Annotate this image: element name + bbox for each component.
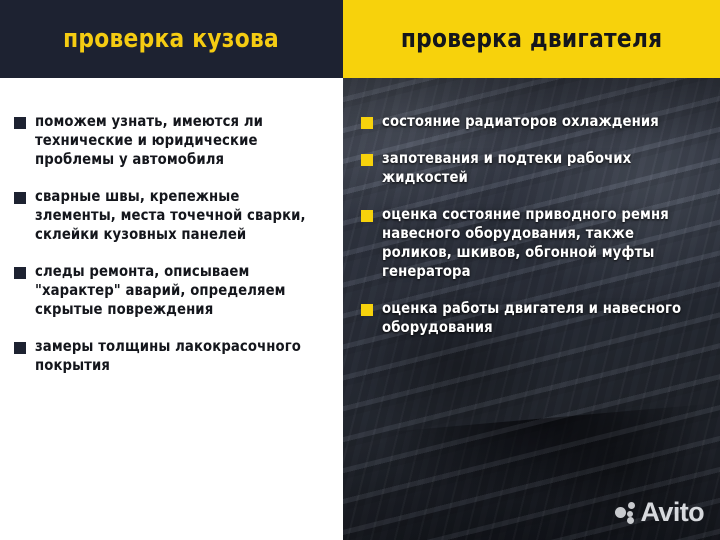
square-bullet-icon (14, 192, 26, 204)
list-item-text: поможем узнать, имеются ли технические и… (35, 112, 314, 169)
square-bullet-icon (14, 117, 26, 129)
square-bullet-icon (361, 154, 373, 166)
right-column-header: проверка двигателя (343, 0, 720, 78)
square-bullet-icon (361, 210, 373, 222)
list-item: замеры толщины лакокрасочного покрытия (14, 337, 329, 375)
left-column-title: проверка кузова (64, 26, 280, 52)
right-column-list: состояние радиаторов охлаждения запотева… (343, 112, 720, 355)
square-bullet-icon (361, 117, 373, 129)
list-item: следы ремонта, описываем "характер" авар… (14, 262, 329, 319)
list-item: состояние радиаторов охлаждения (361, 112, 706, 131)
right-column: проверка двигателя состояние радиаторов … (343, 0, 720, 540)
avito-watermark: Avito (615, 499, 705, 526)
left-column-header: проверка кузова (0, 0, 343, 78)
list-item-text: сварные швы, крепежные злементы, места т… (35, 187, 314, 244)
list-item: запотевания и подтеки рабочих жидкостей (361, 149, 706, 187)
square-bullet-icon (14, 267, 26, 279)
left-column-list: поможем узнать, имеются ли технические и… (0, 112, 343, 393)
list-item-text: состояние радиаторов охлаждения (382, 112, 659, 131)
avito-wordmark: Avito (641, 499, 705, 526)
list-item: оценка состояние приводного ремня навесн… (361, 205, 706, 281)
list-item-text: оценка работы двигателя и навесного обор… (382, 299, 690, 337)
list-item-text: запотевания и подтеки рабочих жидкостей (382, 149, 690, 187)
left-column: проверка кузова поможем узнать, имеются … (0, 0, 343, 540)
list-item-text: замеры толщины лакокрасочного покрытия (35, 337, 314, 375)
square-bullet-icon (361, 304, 373, 316)
list-item: оценка работы двигателя и навесного обор… (361, 299, 706, 337)
square-bullet-icon (14, 342, 26, 354)
list-item: сварные швы, крепежные злементы, места т… (14, 187, 329, 244)
list-item: поможем узнать, имеются ли технические и… (14, 112, 329, 169)
list-item-text: оценка состояние приводного ремня навесн… (382, 205, 690, 281)
avito-dots-logo-icon (615, 502, 637, 524)
list-item-text: следы ремонта, описываем "характер" авар… (35, 262, 314, 319)
right-column-title: проверка двигателя (401, 26, 663, 52)
poster-root: проверка кузова поможем узнать, имеются … (0, 0, 720, 540)
